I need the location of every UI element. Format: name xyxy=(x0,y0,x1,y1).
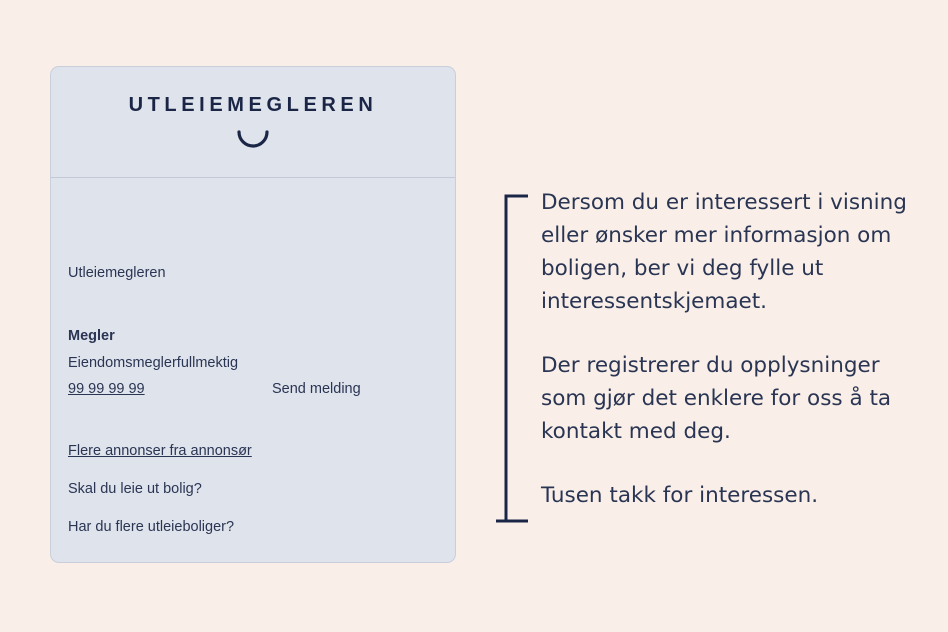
agent-contact-card: UTLEIEMEGLEREN Utleiemegleren Megler Eie… xyxy=(50,66,456,563)
more-ads-from-advertiser-link[interactable]: Flere annonser fra annonsør xyxy=(68,443,252,459)
agent-job-title: Eiendomsmeglerfullmektig xyxy=(68,355,238,371)
agency-name: Utleiemegleren xyxy=(68,265,166,281)
more-rental-homes-question-link[interactable]: Har du flere utleieboliger? xyxy=(68,519,234,535)
card-body: Utleiemegleren Megler Eiendomsmeglerfull… xyxy=(51,178,455,563)
smile-arc-icon xyxy=(51,130,455,152)
annotation-paragraph-2: Der registrerer du opplysninger som gjør… xyxy=(541,349,911,448)
annotation-paragraph-3: Tusen takk for interessen. xyxy=(541,479,911,512)
send-message-link[interactable]: Send melding xyxy=(272,381,361,397)
annotation-paragraph-1: Dersom du er interessert i visning eller… xyxy=(541,186,911,318)
annotation-text-block: Dersom du er interessert i visning eller… xyxy=(541,186,911,512)
page-canvas: UTLEIEMEGLEREN Utleiemegleren Megler Eie… xyxy=(0,0,948,632)
agent-phone-link[interactable]: 99 99 99 99 xyxy=(68,381,145,397)
rent-out-question-link[interactable]: Skal du leie ut bolig? xyxy=(68,481,202,497)
card-header: UTLEIEMEGLEREN xyxy=(51,67,455,178)
agent-role-heading: Megler xyxy=(68,328,115,344)
brand-wordmark: UTLEIEMEGLEREN xyxy=(51,94,455,117)
